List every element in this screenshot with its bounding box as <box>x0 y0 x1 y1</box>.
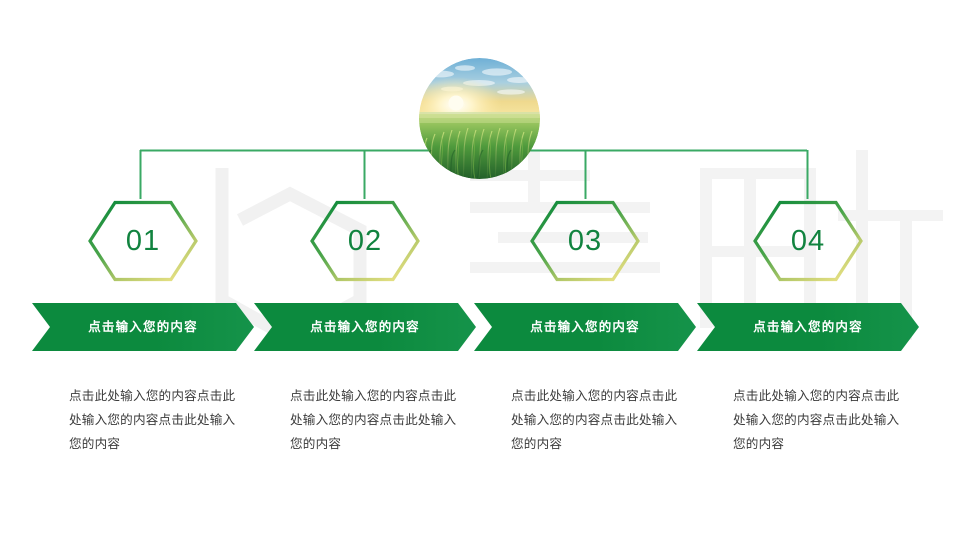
step-2-number: 02 <box>254 200 476 282</box>
step-1-body-text: 点击此处输入您的内容点击此处输入您的内容点击此处输入您的内容 <box>69 384 237 456</box>
step-column-3: 03 点击输入您的内容 点击此处输入您的内容点击此处输入您的内容点击此处输入您的… <box>474 200 696 456</box>
step-2-hexagon[interactable]: 02 <box>254 200 476 282</box>
step-1-banner[interactable]: 点击输入您的内容 <box>32 303 254 351</box>
step-column-4: 04 点击输入您的内容 点击此处输入您的内容点击此处输入您的内容点击此处输入您的… <box>697 200 919 456</box>
step-3-banner-label: 点击输入您的内容 <box>474 303 696 351</box>
step-3-body-text: 点击此处输入您的内容点击此处输入您的内容点击此处输入您的内容 <box>511 384 679 456</box>
step-column-2: 02 点击输入您的内容 点击此处输入您的内容点击此处输入您的内容点击此处输入您的… <box>254 200 476 456</box>
step-1-hexagon[interactable]: 01 <box>32 200 254 282</box>
step-3-hexagon[interactable]: 03 <box>474 200 696 282</box>
step-2-body-text: 点击此处输入您的内容点击此处输入您的内容点击此处输入您的内容 <box>290 384 458 456</box>
step-4-banner[interactable]: 点击输入您的内容 <box>697 303 919 351</box>
step-1-number: 01 <box>32 200 254 282</box>
step-2-banner[interactable]: 点击输入您的内容 <box>254 303 476 351</box>
hero-circle-image <box>419 58 540 179</box>
step-column-1: 01 点击输入您的内容 点击此处输入您的内容点击此处输入您的内容点击此处输入您的… <box>32 200 254 456</box>
step-1-banner-label: 点击输入您的内容 <box>32 303 254 351</box>
step-3-banner[interactable]: 点击输入您的内容 <box>474 303 696 351</box>
step-3-number: 03 <box>474 200 696 282</box>
step-4-hexagon[interactable]: 04 <box>697 200 919 282</box>
step-4-number: 04 <box>697 200 919 282</box>
step-4-body-text: 点击此处输入您的内容点击此处输入您的内容点击此处输入您的内容 <box>733 384 901 456</box>
slide-canvas: 01 点击输入您的内容 点击此处输入您的内容点击此处输入您的内容点击此处输入您的… <box>0 0 960 540</box>
step-2-banner-label: 点击输入您的内容 <box>254 303 476 351</box>
step-4-banner-label: 点击输入您的内容 <box>697 303 919 351</box>
